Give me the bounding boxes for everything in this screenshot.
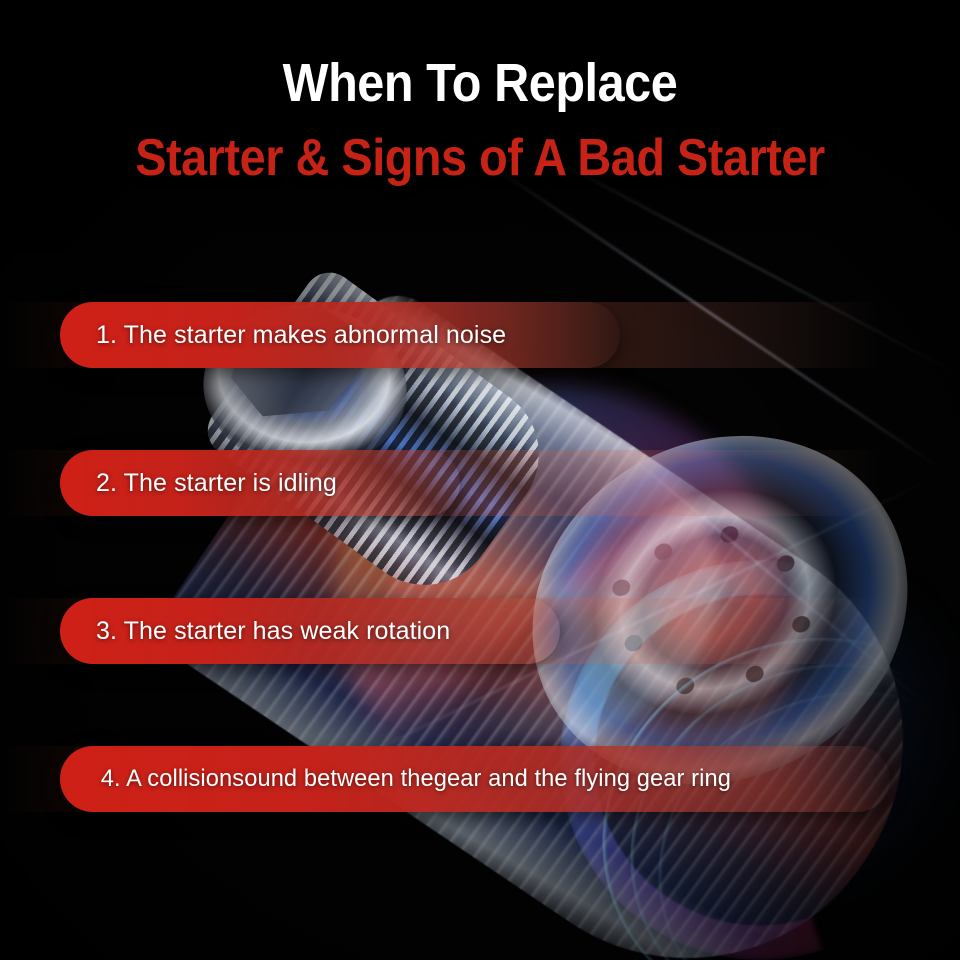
list-item-label-1: 1. The starter makes abnormal noise xyxy=(96,321,506,350)
poster-canvas: When To Replace Starter & Signs of A Bad… xyxy=(0,0,960,960)
headline-line-1: When To Replace xyxy=(48,56,912,110)
list-item: 3. The starter has weak rotation xyxy=(0,598,960,664)
list-item-label-2: 2. The starter is idling xyxy=(96,469,337,498)
list-item: 2. The starter is idling xyxy=(0,450,960,516)
list-item-pill-3: 3. The starter has weak rotation xyxy=(60,598,560,664)
list-item-pill-4: 4. A collisionsound between thegear and … xyxy=(60,746,890,812)
list-item-pill-2: 2. The starter is idling xyxy=(60,450,460,516)
list-item: 4. A collisionsound between thegear and … xyxy=(0,746,960,812)
list-item-label-4: 4. A collisionsound between thegear and … xyxy=(101,765,731,793)
headline-line-2: Starter & Signs of A Bad Starter xyxy=(48,132,912,184)
list-item-pill-1: 1. The starter makes abnormal noise xyxy=(60,302,620,368)
list-item: 1. The starter makes abnormal noise xyxy=(0,302,960,368)
list-item-label-3: 3. The starter has weak rotation xyxy=(96,617,450,646)
headline-block: When To Replace Starter & Signs of A Bad… xyxy=(0,56,960,184)
